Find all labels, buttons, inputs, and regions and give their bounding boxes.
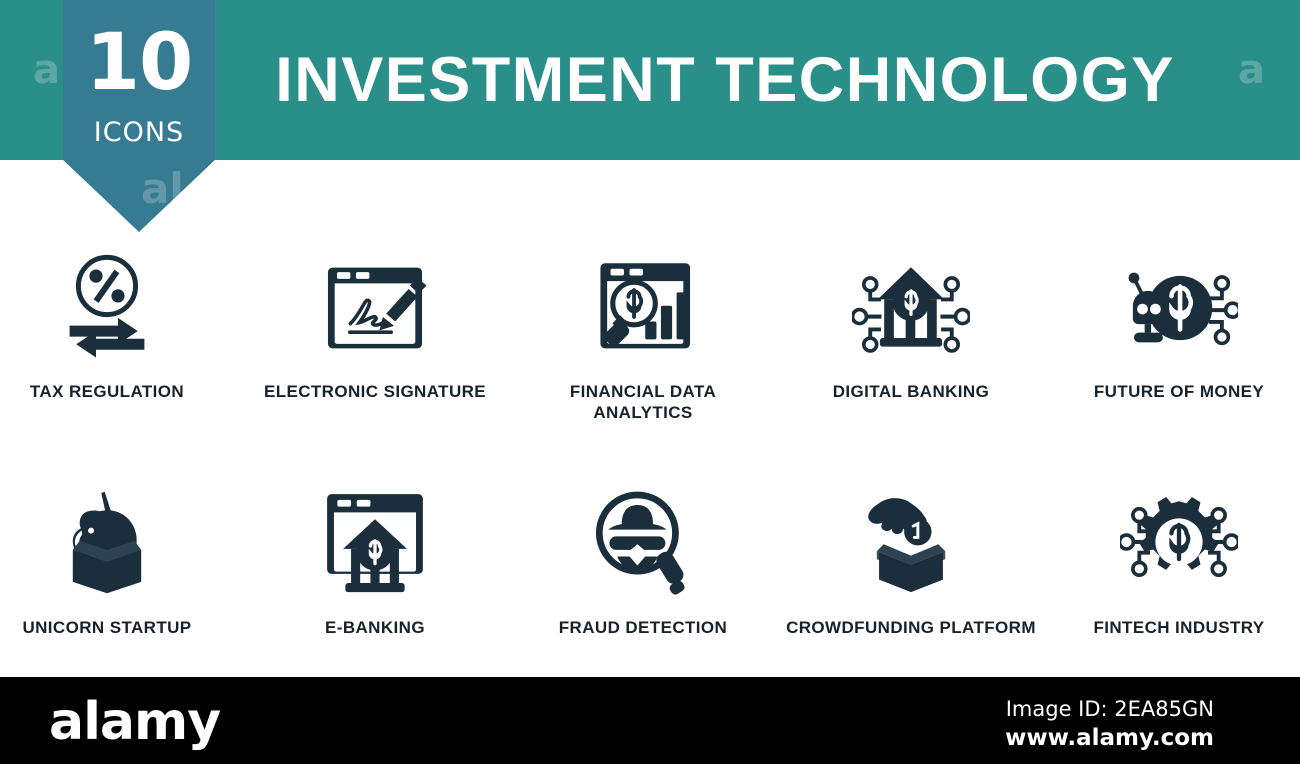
browser-magnifier-dollar-barchart-icon — [583, 248, 703, 368]
image-id-text: Image ID: 2EA85GN — [1006, 699, 1214, 720]
unicorn-in-box-icon — [47, 482, 167, 602]
robot-dollar-circuit-icon — [1119, 248, 1239, 368]
hand-coin-box-icon — [851, 482, 971, 602]
icon-label: E-BANKING — [245, 618, 505, 639]
icon-label-line-1: FINANCIAL DATA — [513, 382, 773, 403]
alamy-url-text: www.alamy.com — [1005, 727, 1214, 750]
alamy-watermark-bar: alamy Image ID: 2EA85GN www.alamy.com — [0, 677, 1300, 764]
page-title: INVESTMENT TECHNOLOGY — [225, 0, 1225, 160]
watermark-letter-left: a — [33, 50, 60, 90]
icon-cell-crowdfunding-platform[interactable]: CROWDFUNDING PLATFORM — [781, 482, 1041, 639]
percent-circle-exchange-icon — [47, 248, 167, 368]
alamy-logo: alamy — [49, 696, 220, 748]
watermark-letter-right: a — [1238, 50, 1265, 90]
watermark-letter-ribbon: al — [141, 168, 184, 210]
icon-label: FINANCIAL DATA ANALYTICS — [513, 382, 773, 423]
icon-cell-unicorn-startup[interactable]: UNICORN STARTUP — [0, 482, 237, 639]
icon-label: FINTECH INDUSTRY — [1049, 618, 1300, 639]
browser-bank-dollar-icon — [315, 482, 435, 602]
icon-grid: TAX REGULATION — [0, 248, 1300, 678]
magnifier-spy-face-icon — [583, 482, 703, 602]
icon-label: ELECTRONIC SIGNATURE — [245, 382, 505, 403]
icon-cell-fintech-industry[interactable]: FINTECH INDUSTRY — [1049, 482, 1300, 639]
icon-cell-digital-banking[interactable]: DIGITAL BANKING — [781, 248, 1041, 403]
icon-count-ribbon: 10 ICONS al — [63, 0, 215, 232]
icon-label: UNICORN STARTUP — [0, 618, 237, 639]
icon-label: TAX REGULATION — [0, 382, 237, 403]
icon-cell-future-of-money[interactable]: FUTURE OF MONEY — [1049, 248, 1300, 403]
icon-cell-tax-regulation[interactable]: TAX REGULATION — [0, 248, 237, 403]
icon-count-number: 10 — [63, 24, 215, 102]
icon-count-label: ICONS — [63, 119, 215, 146]
gear-dollar-circuit-icon — [1119, 482, 1239, 602]
icon-label: DIGITAL BANKING — [781, 382, 1041, 403]
icon-cell-fraud-detection[interactable]: FRAUD DETECTION — [513, 482, 773, 639]
icon-cell-electronic-signature[interactable]: ELECTRONIC SIGNATURE — [245, 248, 505, 403]
icon-cell-e-banking[interactable]: E-BANKING — [245, 482, 505, 639]
icon-label: FRAUD DETECTION — [513, 618, 773, 639]
icon-label-line-2: ANALYTICS — [513, 403, 773, 424]
browser-signature-pencil-icon — [315, 248, 435, 368]
icon-set-poster: a a INVESTMENT TECHNOLOGY 10 ICONS al — [0, 0, 1300, 764]
icon-cell-financial-data-analytics[interactable]: FINANCIAL DATA ANALYTICS — [513, 248, 773, 423]
icon-label: CROWDFUNDING PLATFORM — [781, 618, 1041, 639]
icon-label: FUTURE OF MONEY — [1049, 382, 1300, 403]
bank-dollar-circuit-icon — [851, 248, 971, 368]
